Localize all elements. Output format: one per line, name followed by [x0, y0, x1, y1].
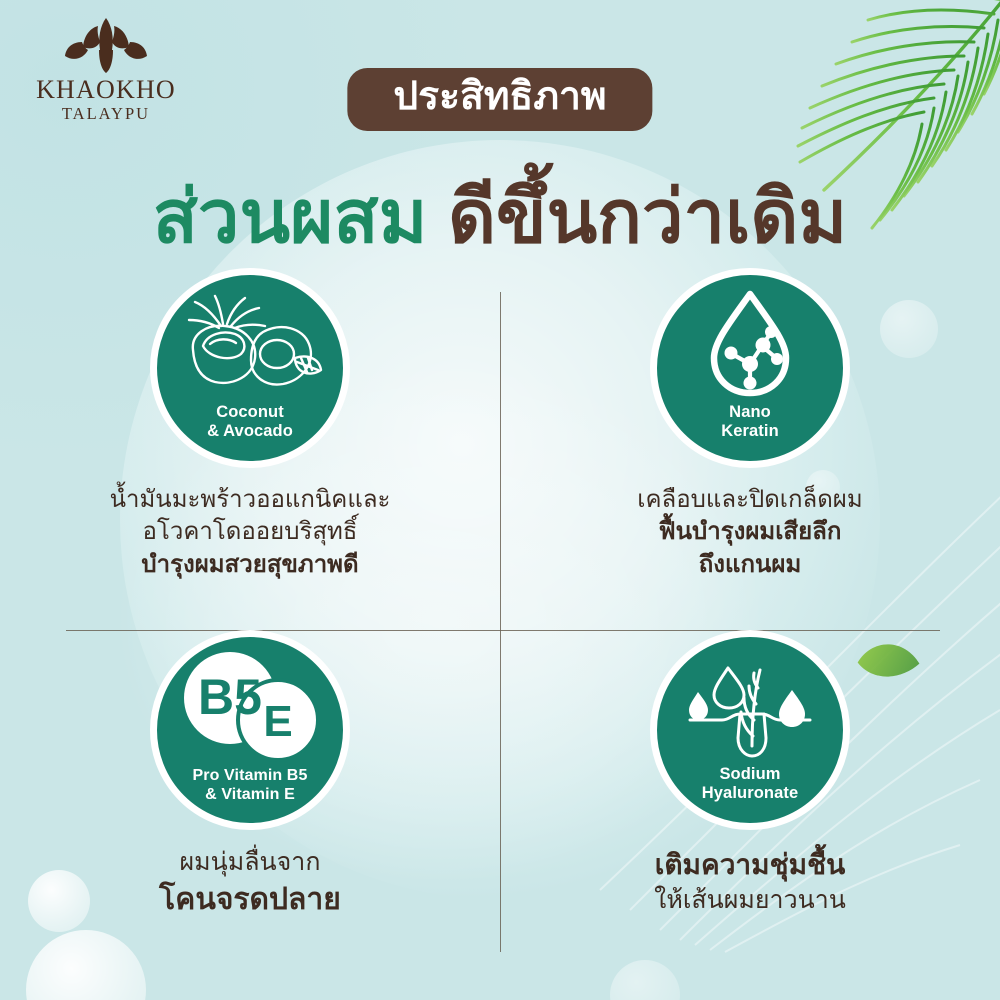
feature-circle-wrap: Coconut & Avocado — [150, 268, 350, 468]
caption-line-2: & Avocado — [207, 422, 293, 440]
desc-line-bold: เติมความชุ่มชื้น — [654, 846, 846, 884]
feature-circle-caption: Nano Keratin — [711, 403, 789, 441]
feature-circle-wrap: Sodium Hyaluronate — [650, 630, 850, 830]
desc-line-bold: ถึงแกนผม — [637, 549, 862, 581]
feature-coconut-avocado: Coconut & Avocado น้ำมันมะพร้าวออแกนิคแล… — [0, 268, 500, 630]
caption-line-1: Sodium — [719, 765, 780, 783]
droplet-molecule-icon — [704, 285, 796, 403]
page-title: ส่วนผสม ดีขึ้นกว่าเดิม — [0, 174, 1000, 259]
desc-line-bold: ฟื้นบำรุงผมเสียลึก — [637, 516, 862, 548]
feature-circle-caption: Sodium Hyaluronate — [692, 765, 808, 803]
feature-circle: Nano Keratin — [650, 268, 850, 468]
hair-follicle-droplets-icon — [684, 647, 816, 765]
feature-description: น้ำมันมะพร้าวออแกนิคและ อโวคาโดออยบริสุท… — [110, 484, 391, 581]
coconut-avocado-icon — [177, 285, 323, 403]
desc-line: น้ำมันมะพร้าวออแกนิคและ — [110, 484, 391, 516]
headline-green: ส่วนผสม — [153, 175, 428, 258]
feature-nano-keratin: Nano Keratin เคลือบและปิดเกล็ดผม ฟื้นบำร… — [500, 268, 1000, 630]
brand-name: KHAOKHO — [22, 76, 190, 103]
bubble-label-e: E — [263, 697, 292, 746]
feature-circle: B5 E Pro Vitamin B5 & Vitamin E — [150, 630, 350, 830]
bubble-label-b5: B5 — [198, 669, 262, 725]
feature-description: เติมความชุ่มชื้น ให้เส้นผมยาวนาน — [654, 846, 846, 918]
caption-line-1: Pro Vitamin B5 — [193, 767, 308, 784]
desc-line: เคลือบและปิดเกล็ดผม — [637, 484, 862, 516]
desc-line: ผมนุ่มลื่นจาก — [159, 846, 341, 880]
feature-circle: Coconut & Avocado — [150, 268, 350, 468]
caption-line-2: Keratin — [721, 422, 779, 440]
caption-line-2: Hyaluronate — [702, 784, 798, 802]
brand-logo: KHAOKHO TALAYPU — [22, 16, 190, 124]
caption-line-2: & Vitamin E — [205, 786, 295, 803]
feature-pro-vitamin: B5 E Pro Vitamin B5 & Vitamin E ผมนุ่มลื… — [0, 630, 500, 988]
lotus-flower-icon — [64, 16, 148, 74]
caption-line-1: Coconut — [216, 403, 284, 421]
caption-line-1: Nano — [729, 403, 771, 421]
feature-circle: Sodium Hyaluronate — [650, 630, 850, 830]
feature-circle-caption: Coconut & Avocado — [197, 403, 303, 441]
header-badge: ประสิทธิภาพ — [347, 68, 652, 131]
feature-sodium-hyaluronate: Sodium Hyaluronate เติมความชุ่มชื้น ให้เ… — [500, 630, 1000, 988]
feature-circle-wrap: Nano Keratin — [650, 268, 850, 468]
feature-circle-caption: Pro Vitamin B5 & Vitamin E — [183, 767, 318, 804]
feature-circle-wrap: B5 E Pro Vitamin B5 & Vitamin E — [150, 630, 350, 830]
desc-line: ให้เส้นผมยาวนาน — [654, 884, 846, 918]
headline-brown: ดีขึ้นกว่าเดิม — [448, 175, 847, 258]
feature-description: ผมนุ่มลื่นจาก โคนจรดปลาย — [159, 846, 341, 920]
brand-subtitle: TALAYPU — [22, 104, 190, 124]
features-grid: Coconut & Avocado น้ำมันมะพร้าวออแกนิคแล… — [0, 268, 1000, 988]
vitamin-bubbles-icon: B5 E — [174, 643, 326, 767]
desc-line-bold: โคนจรดปลาย — [159, 880, 341, 921]
feature-description: เคลือบและปิดเกล็ดผม ฟื้นบำรุงผมเสียลึก ถ… — [637, 484, 862, 581]
desc-line: อโวคาโดออยบริสุทธิ์ — [110, 516, 391, 548]
desc-line-bold: บำรุงผมสวยสุขภาพดี — [110, 549, 391, 581]
